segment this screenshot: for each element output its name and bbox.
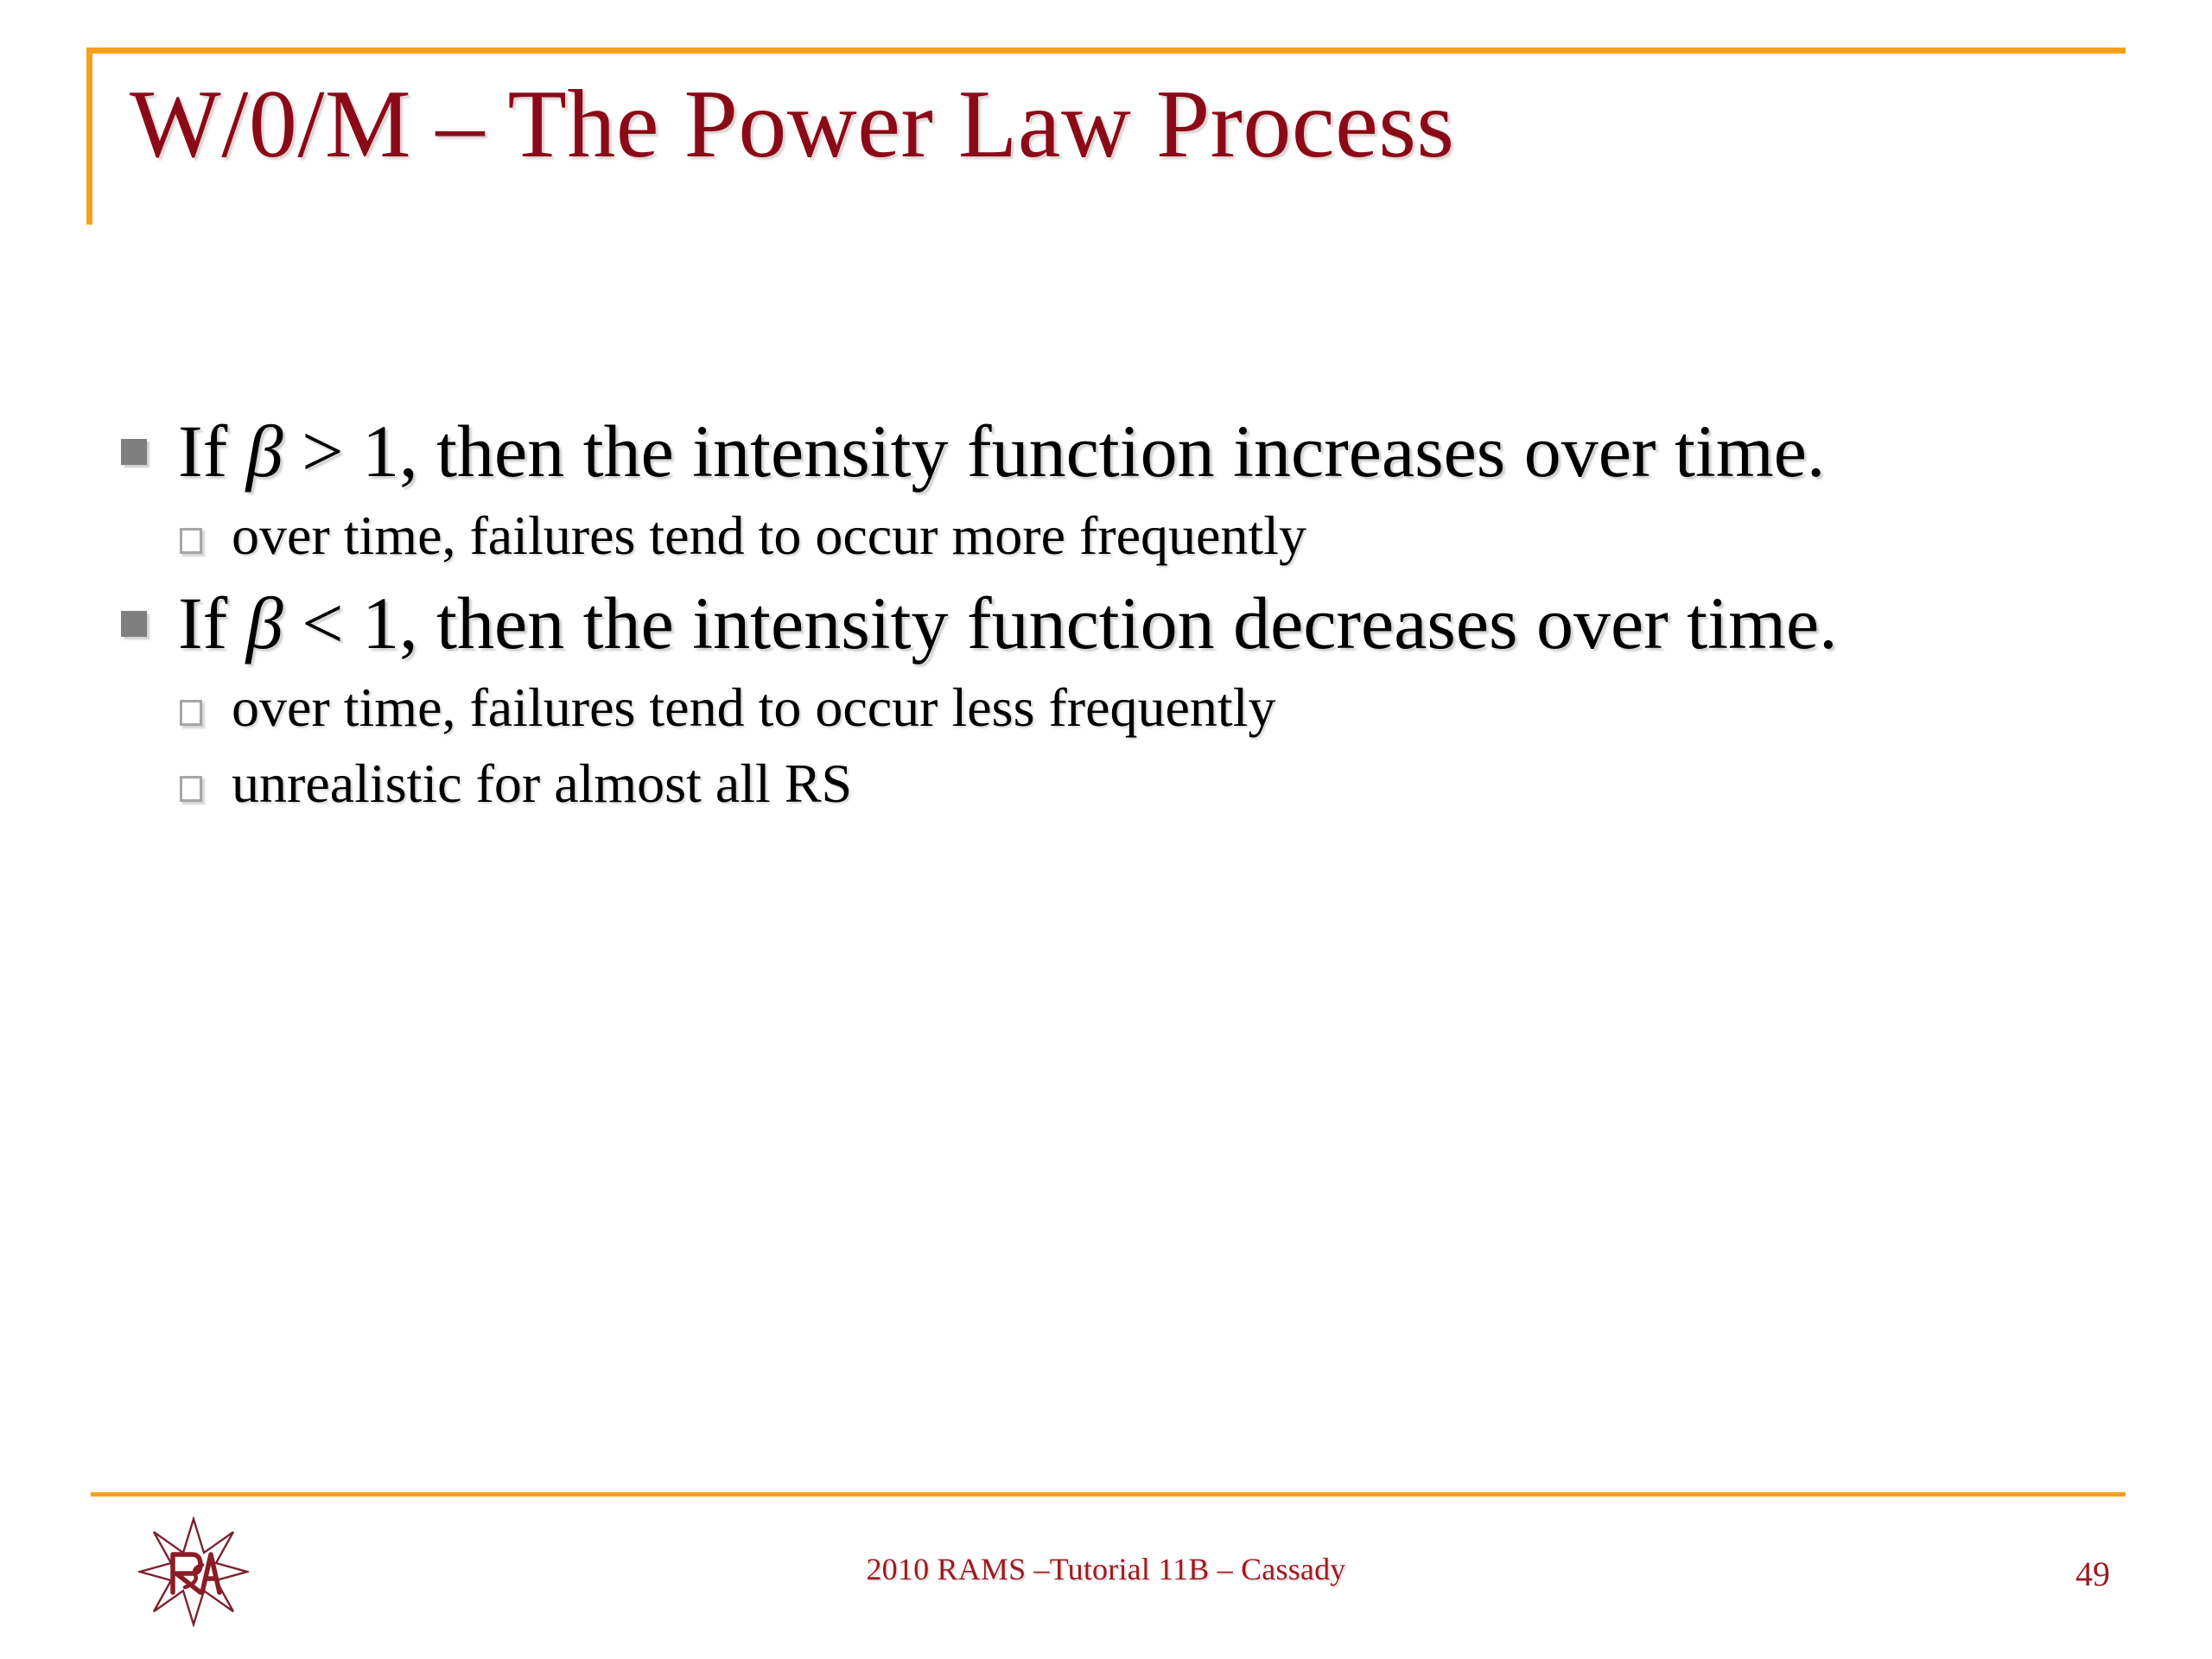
subbullet-2-2-label: unrealistic for almost all RS — [232, 750, 852, 817]
slide-body: If β > 1, then the intensity function in… — [121, 406, 2126, 826]
subbullet-item-2-1: over time, failures tend to occur less f… — [180, 674, 2126, 741]
bullet-2-text-before: If — [178, 582, 246, 664]
hollow-square-bullet-icon — [180, 528, 202, 554]
bullet-1-text-before: If — [178, 410, 246, 493]
subbullet-item-2-2: unrealistic for almost all RS — [180, 750, 2126, 817]
subbullet-2-1-label: over time, failures tend to occur less f… — [232, 674, 1275, 741]
footer-divider — [91, 1492, 2126, 1497]
subbullet-1-1-label: over time, failures tend to occur more f… — [232, 502, 1306, 569]
page-number: 49 — [2075, 1554, 2110, 1594]
page-title: W/0/M – The Power Law Process — [130, 67, 2117, 181]
beta-symbol: β — [246, 582, 283, 664]
bullet-2-text-after: < 1, then the intensity function decreas… — [283, 582, 1838, 664]
square-bullet-icon — [121, 611, 147, 637]
beta-symbol: β — [246, 410, 283, 493]
hollow-square-bullet-icon — [180, 776, 202, 802]
bullet-item-1: If β > 1, then the intensity function in… — [121, 406, 2126, 497]
slide: W/0/M – The Power Law Process If β > 1, … — [0, 0, 2212, 1659]
bullet-1-text-after: > 1, then the intensity function increas… — [283, 410, 1826, 493]
bullet-1-label: If β > 1, then the intensity function in… — [178, 406, 1825, 497]
footer-citation: 2010 RAMS –Tutorial 11B – Cassady — [0, 1551, 2212, 1587]
subbullet-item-1-1: over time, failures tend to occur more f… — [180, 502, 2126, 569]
hollow-square-bullet-icon — [180, 700, 202, 726]
bullet-item-2: If β < 1, then the intensity function de… — [121, 578, 2126, 669]
bullet-2-label: If β < 1, then the intensity function de… — [178, 578, 1838, 669]
square-bullet-icon — [121, 439, 147, 465]
